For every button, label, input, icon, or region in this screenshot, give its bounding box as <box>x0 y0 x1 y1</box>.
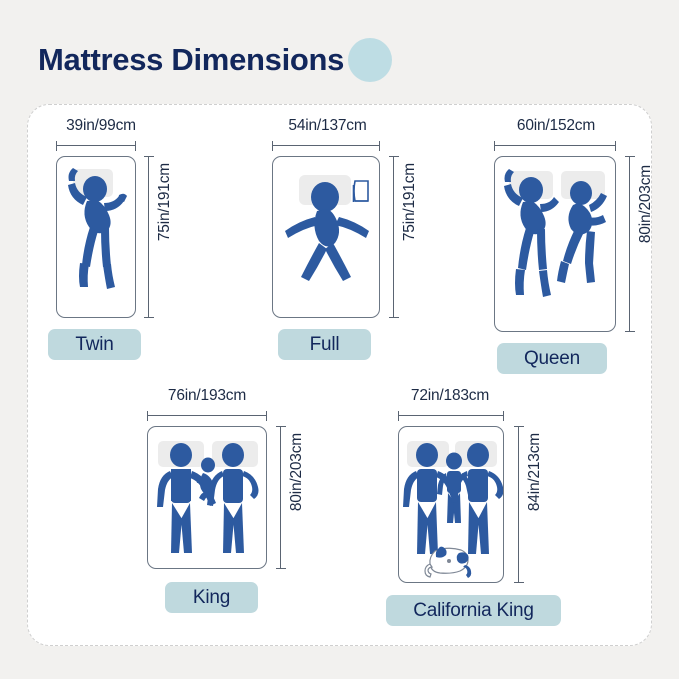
twin-bed-illustration <box>57 157 136 318</box>
bed-card-california-king: 72in/183cm <box>368 387 598 637</box>
queen-width-dimension-line <box>494 145 616 146</box>
full-bed-rect <box>272 156 380 318</box>
size-pill-california-king-label: California King <box>413 600 534 622</box>
twin-width-label: 39in/99cm <box>36 117 166 135</box>
size-pill-full[interactable]: Full <box>278 329 371 360</box>
title-area: Mattress Dimensions <box>38 36 344 84</box>
queen-width-label: 60in/152cm <box>476 117 636 135</box>
queen-bed-rect <box>494 156 616 332</box>
bed-card-full: 54in/137cm 75in/19 <box>250 105 435 365</box>
king-width-dimension-line <box>147 415 267 416</box>
size-pill-king-label: King <box>193 587 230 609</box>
california-king-bed-rect <box>398 426 504 583</box>
size-pill-twin-label: Twin <box>75 334 113 356</box>
king-width-label: 76in/193cm <box>123 387 291 405</box>
twin-width-dimension-line <box>56 145 136 146</box>
content-panel: 39in/99cm 75in/191cm <box>27 104 652 646</box>
queen-bed-illustration <box>495 157 616 332</box>
full-width-dimension-line <box>272 145 380 146</box>
queen-height-dimension-line <box>629 156 630 332</box>
california-king-height-label: 84in/213cm <box>526 433 544 511</box>
twin-height-dimension-line <box>148 156 149 318</box>
title-accent-circle <box>348 38 392 82</box>
bed-card-king: 76in/193cm <box>123 387 333 637</box>
queen-height-label: 80in/203cm <box>637 165 655 243</box>
california-king-width-label: 72in/183cm <box>368 387 532 405</box>
california-king-bed-illustration <box>399 427 504 583</box>
size-pill-full-label: Full <box>310 334 340 356</box>
full-width-label: 54in/137cm <box>250 117 405 135</box>
bed-card-twin: 39in/99cm 75in/191cm <box>28 105 198 365</box>
page-title: Mattress Dimensions <box>38 42 344 78</box>
size-pill-twin[interactable]: Twin <box>48 329 141 360</box>
size-pill-queen[interactable]: Queen <box>497 343 607 374</box>
twin-bed-rect <box>56 156 136 318</box>
size-pill-queen-label: Queen <box>524 348 580 370</box>
california-king-width-dimension-line <box>398 415 504 416</box>
size-pill-king[interactable]: King <box>165 582 258 613</box>
california-king-height-dimension-line <box>518 426 519 583</box>
full-height-label: 75in/191cm <box>401 163 419 241</box>
full-bed-illustration <box>273 157 380 318</box>
king-bed-rect <box>147 426 267 569</box>
king-height-label: 80in/203cm <box>288 433 306 511</box>
bed-card-queen: 60in/152cm <box>476 105 661 365</box>
full-height-dimension-line <box>393 156 394 318</box>
twin-height-label: 75in/191cm <box>156 163 174 241</box>
book-icon <box>354 181 369 202</box>
size-pill-california-king[interactable]: California King <box>386 595 561 626</box>
king-bed-illustration <box>148 427 267 569</box>
king-height-dimension-line <box>280 426 281 569</box>
